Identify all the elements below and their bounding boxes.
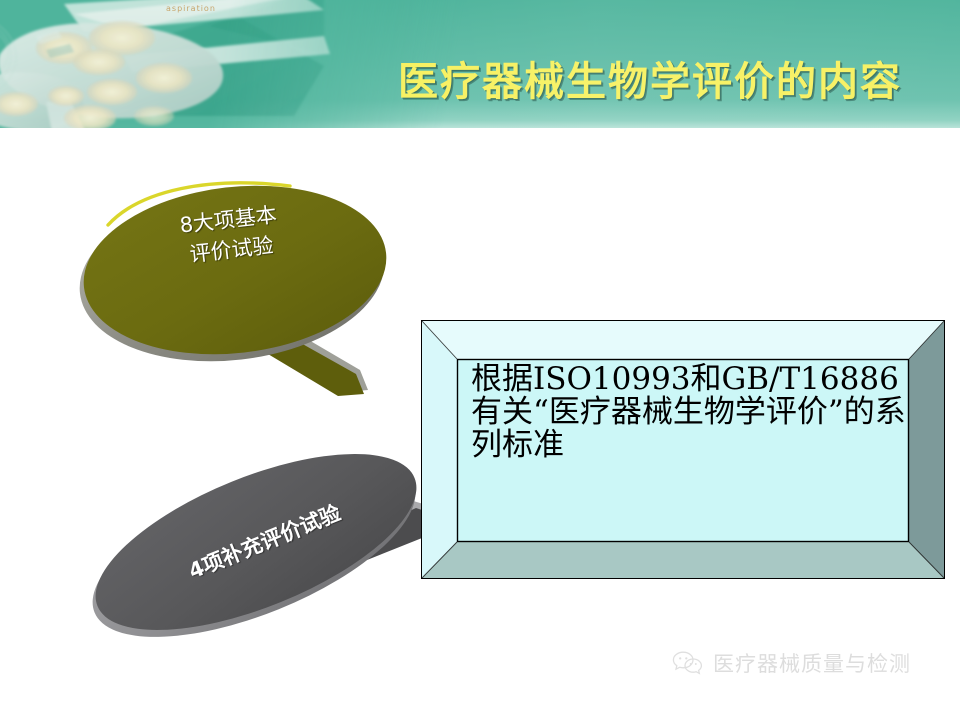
callout-basic-tests[interactable]: 8大项基本 评价试验 bbox=[60, 150, 440, 400]
info-box-bevel-top bbox=[422, 321, 944, 359]
info-box-inner-panel bbox=[458, 360, 909, 542]
photo-brand-text: aspiration bbox=[166, 4, 216, 13]
callout-olive-shape bbox=[60, 150, 440, 400]
watermark: 医疗器械质量与检测 bbox=[672, 648, 911, 678]
callout-supplementary-tests[interactable]: 4项补充评价试验 bbox=[58, 432, 478, 647]
header-banner: aspiration bbox=[0, 0, 960, 128]
surgical-light-photo: aspiration bbox=[0, 0, 464, 128]
info-box[interactable]: 根据ISO10993和GB/T16886有关“医疗器械生物学评价”的系列标准 bbox=[421, 320, 945, 579]
info-box-bevel-left bbox=[422, 321, 457, 578]
callout-gray-shape bbox=[58, 432, 478, 647]
info-box-frame bbox=[421, 320, 945, 579]
slide-canvas: aspiration bbox=[0, 0, 960, 720]
info-box-bevel-right bbox=[909, 321, 944, 578]
info-box-bevel-bottom bbox=[422, 542, 944, 578]
wechat-icon bbox=[672, 650, 702, 676]
watermark-label: 医疗器械质量与检测 bbox=[713, 648, 911, 678]
page-title: 医疗器械生物学评价的内容 bbox=[398, 62, 902, 102]
